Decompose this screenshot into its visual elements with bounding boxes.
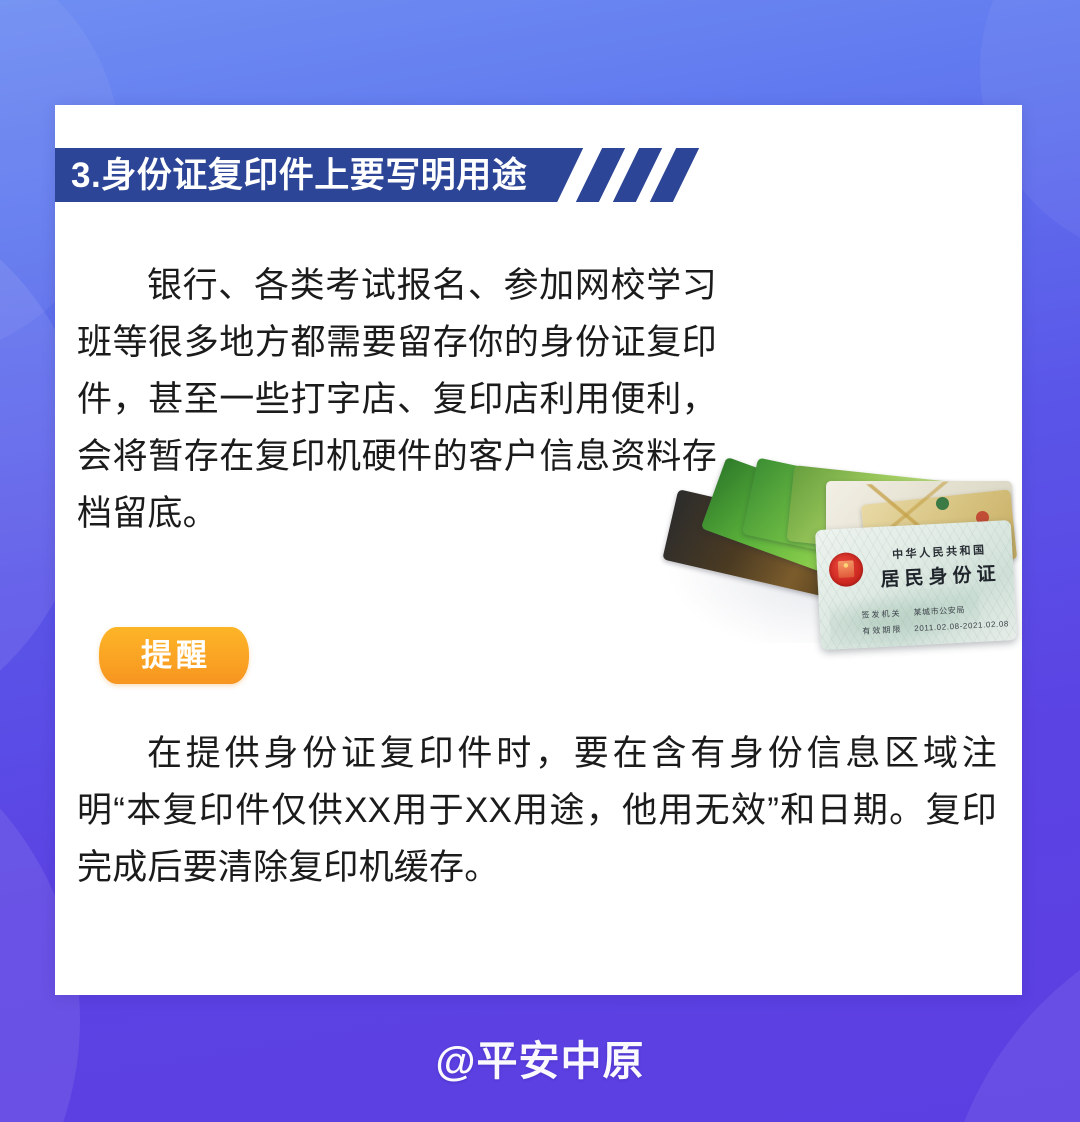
reminder-badge-label: 提醒: [137, 640, 211, 671]
poster-root: 3.身份证复印件上要写明用途 银行、各类考试报名、参加网校学习班等很多地方都需要…: [0, 0, 1080, 1122]
title-bar: 3.身份证复印件上要写明用途: [55, 148, 583, 202]
title-stripes-decoration: [589, 148, 700, 202]
bank-logo-icon-1: [936, 497, 949, 510]
id-card-issuer-label: 签发机关: [861, 609, 901, 620]
page-title: 3.身份证复印件上要写明用途: [71, 158, 527, 193]
body-paragraph-1: 银行、各类考试报名、参加网校学习班等很多地方都需要留存你的身份证复印件，甚至一些…: [77, 257, 717, 542]
account-handle-watermark: @平安中原: [0, 1027, 1080, 1087]
resident-id-card: 中华人民共和国 居民身份证 签发机关某城市公安局 有效期限2011.02.08-…: [815, 520, 1017, 650]
content-card: 3.身份证复印件上要写明用途 银行、各类考试报名、参加网校学习班等很多地方都需要…: [55, 105, 1022, 995]
id-card-validity-label: 有效期限: [862, 625, 902, 636]
id-card-issuer-value: 某城市公安局: [913, 605, 965, 617]
reminder-badge: 提醒: [99, 627, 249, 684]
id-cards-illustration: 中华人民共和国 居民身份证 签发机关某城市公安局 有效期限2011.02.08-…: [650, 453, 1022, 653]
section-title-banner: 3.身份证复印件上要写明用途: [55, 148, 1022, 202]
body-paragraph-2: 在提供身份证复印件时，要在含有身份信息区域注明“本复印件仅供XX用于XX用途，他…: [77, 725, 997, 896]
